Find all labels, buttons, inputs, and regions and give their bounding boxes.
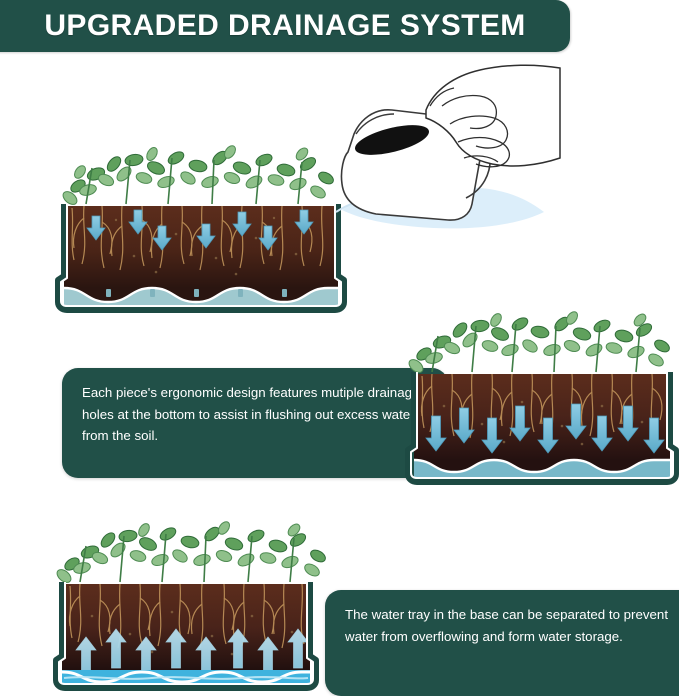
callout-water-tray: The water tray in the base can be separa… [325,590,679,696]
planter-2-illustration [404,300,679,484]
planter-3-illustration [52,512,340,690]
callout-drainage-holes: Each piece's ergonomic design features m… [62,368,448,478]
page-title: UPGRADED DRAINAGE SYSTEM [30,9,525,43]
foliage-cluster [55,520,328,585]
planter-1-illustration [56,138,346,310]
hand-holding-watering-can [330,62,560,237]
callout-2-text: The water tray in the base can be separa… [345,604,679,647]
planter-2-svg [404,300,679,484]
watering-can-svg [330,62,560,237]
callout-1-text: Each piece's ergonomic design features m… [82,382,430,447]
title-banner: UPGRADED DRAINAGE SYSTEM [0,0,570,52]
planter-3-svg [52,512,340,690]
foliage-cluster [61,144,336,207]
foliage-cluster [407,310,672,375]
poster-canvas: UPGRADED DRAINAGE SYSTEM [0,0,679,691]
planter-1-svg [56,138,346,310]
